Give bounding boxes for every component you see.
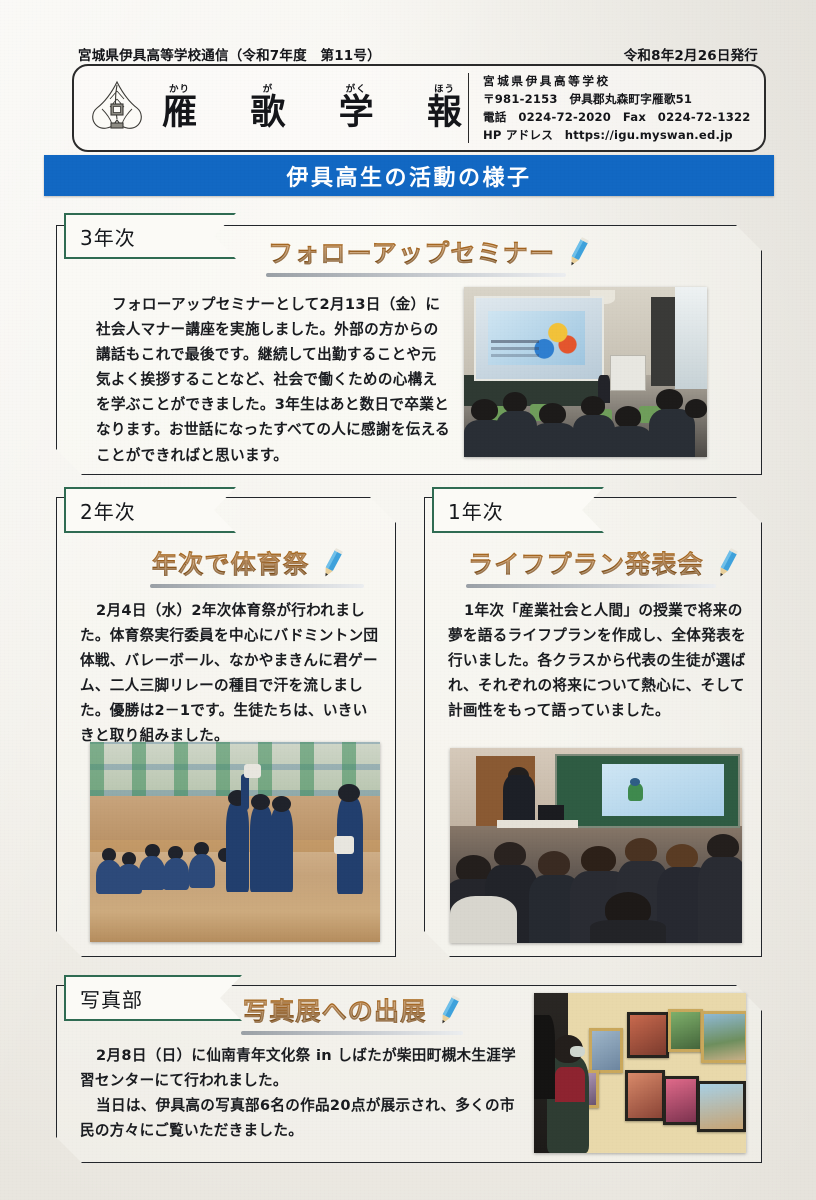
section-body-year2: 2月4日（水）2年次体育祭が行われました。体育祭実行委員を中心にバドミントン団体… (80, 598, 380, 749)
masthead-char-3: がく 学 (339, 85, 374, 131)
body-paragraph: フォローアップセミナーとして2月13日（金）に社会人マナー講座を実施しました。外… (96, 292, 451, 468)
section-title-row-year2: 年次で体育祭 (152, 545, 347, 581)
section-title-year2: 年次で体育祭 (152, 545, 309, 581)
pencil-icon (563, 236, 593, 270)
section-tag-year3: 3年次 (64, 213, 236, 259)
section-title-row-year1: ライフプラン発表会 (468, 545, 742, 581)
kanji-2: 歌 (250, 96, 285, 131)
kanji-4: 報 (427, 96, 462, 131)
pencil-icon (317, 547, 347, 581)
title-underline-photo-club (241, 1031, 463, 1035)
body-paragraph-2: 当日は、伊具高の写真部6名の作品20点が展示され、多くの市民の方々にご覧いただき… (80, 1093, 520, 1143)
section-tag-label: 1年次 (448, 496, 504, 525)
section-body-year1: 1年次「産業社会と人間」の授業で将来の夢を語るライフプランを作成し、全体発表を行… (448, 598, 746, 723)
banner-text: 伊具高生の活動の様子 (286, 160, 531, 192)
masthead-char-2: が 歌 (250, 85, 285, 131)
masthead-char-1: かり 雁 (162, 85, 197, 131)
kanji-1: 雁 (162, 96, 197, 131)
section-banner: 伊具高生の活動の様子 (44, 155, 774, 196)
section-tag-year1: 1年次 (432, 487, 604, 533)
body-paragraph-1: 2月8日（日）に仙南青年文化祭 in しばたが柴田町槻木生涯学習センターにて行わ… (80, 1043, 520, 1093)
section-tag-photo-club: 写真部 (64, 975, 242, 1021)
section-title-row-photo-club: 写真展への出展 (243, 992, 464, 1028)
photo-seminar (464, 287, 707, 457)
title-underline-year3 (266, 273, 566, 277)
page-header-line: 宮城県伊具高等学校通信（令和7年度 第11号） 令和8年2月26日発行 (78, 44, 758, 64)
section-tag-label: 写真部 (80, 984, 143, 1013)
issue-label: 宮城県伊具高等学校通信（令和7年度 第11号） (78, 44, 381, 64)
title-underline-year1 (466, 584, 716, 588)
masthead-char-4: ほう 報 (427, 85, 462, 131)
photo-sports-festival (90, 742, 380, 942)
school-website: HP アドレス https://igu.myswan.ed.jp (483, 127, 764, 143)
section-body-year3: フォローアップセミナーとして2月13日（金）に社会人マナー講座を実施しました。外… (96, 292, 451, 468)
section-title-year1: ライフプラン発表会 (468, 545, 704, 581)
section-body-photo-club: 2月8日（日）に仙南青年文化祭 in しばたが柴田町槻木生涯学習センターにて行わ… (80, 1043, 520, 1143)
photo-exhibition (534, 993, 746, 1153)
section-tag-label: 3年次 (80, 222, 136, 251)
body-paragraph: 2月4日（水）2年次体育祭が行われました。体育祭実行委員を中心にバドミントン団体… (80, 598, 380, 749)
section-title-photo-club: 写真展への出展 (243, 992, 426, 1028)
title-underline-year2 (150, 584, 364, 588)
body-paragraph: 1年次「産業社会と人間」の授業で将来の夢を語るライフプランを作成し、全体発表を行… (448, 598, 746, 723)
pencil-icon (712, 547, 742, 581)
section-tag-year2: 2年次 (64, 487, 236, 533)
school-contact: 電話 0224-72-2020 Fax 0224-72-1322 (483, 109, 764, 125)
school-name: 宮城県伊具高等学校 (483, 73, 764, 89)
school-address: 〒981-2153 伊具郡丸森町字雁歌51 (483, 91, 764, 107)
section-title-row-year3: フォローアップセミナー (268, 234, 593, 270)
section-title-year3: フォローアップセミナー (268, 234, 555, 270)
masthead-title: かり 雁 が 歌 がく 学 ほう 報 (160, 85, 468, 131)
section-tag-label: 2年次 (80, 496, 136, 525)
photo-lifeplan-presentation (450, 748, 742, 943)
pencil-icon (434, 994, 464, 1028)
school-crest-trefoil-icon (74, 79, 160, 137)
masthead: かり 雁 が 歌 がく 学 ほう 報 宮城県伊具高等学校 〒981-2153 伊… (72, 64, 766, 152)
publication-date: 令和8年2月26日発行 (624, 44, 758, 64)
kanji-3: 学 (339, 96, 374, 131)
newsletter-page: 宮城県伊具高等学校通信（令和7年度 第11号） 令和8年2月26日発行 (0, 0, 816, 1200)
school-info-block: 宮城県伊具高等学校 〒981-2153 伊具郡丸森町字雁歌51 電話 0224-… (468, 73, 764, 143)
